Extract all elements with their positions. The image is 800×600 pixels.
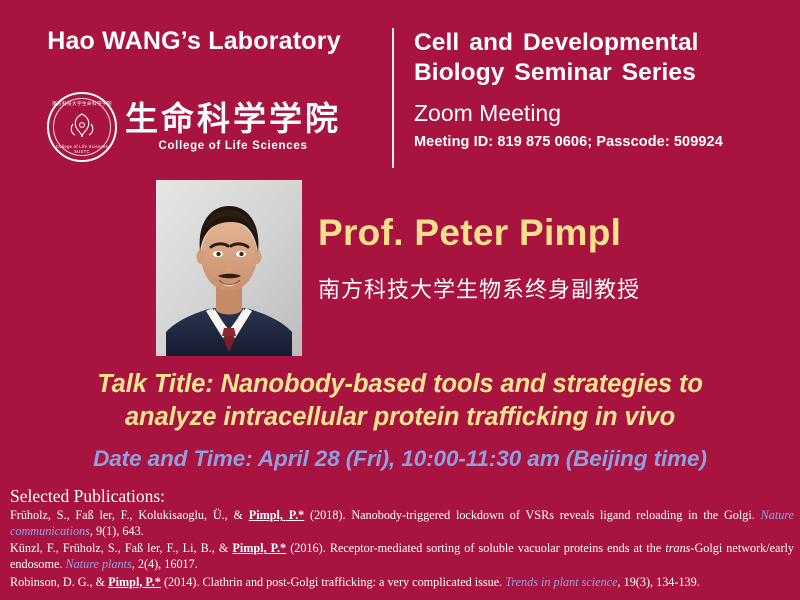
seminar-poster: Hao WANG’s Laboratory 南方科技大学生命科学学院 Colle… [0, 0, 800, 600]
pub2-journal: Nature plants [66, 557, 132, 571]
pub2-citation: , 2(4), 16017. [132, 557, 198, 571]
header-divider [392, 28, 394, 168]
speaker-portrait-graphic [156, 180, 302, 356]
publications-heading: Selected Publications: [10, 486, 794, 506]
pub1-citation: , 9(1), 643. [90, 524, 144, 538]
header-right-block: Cell and Developmental Biology Seminar S… [414, 28, 794, 150]
pub3-citation: , 19(3), 134-139. [618, 575, 700, 589]
talk-title-line-2: analyze intracellular protein traffickin… [14, 401, 786, 434]
pub2-italic-term: trans [665, 541, 690, 555]
pub3-text: (2014). Clathrin and post-Golgi traffick… [161, 575, 505, 589]
publication-item: Robinson, D. G., & Pimpl, P.* (2014). Cl… [10, 575, 794, 591]
selected-publications: Selected Publications: Früholz, S., Faß … [10, 486, 794, 590]
university-seal-icon: 南方科技大学生命科学学院 College of Life Sciences SU… [47, 92, 117, 162]
college-name-block: 生命科学学院 College of Life Sciences [125, 102, 341, 152]
lab-title: Hao WANG’s Laboratory [0, 28, 388, 56]
pub3-journal: Trends in plant science [505, 575, 617, 589]
pub1-text: (2018). Nanobody-triggered lockdown of V… [304, 508, 760, 522]
college-name-chinese: 生命科学学院 [125, 102, 341, 135]
seal-emblem-icon [65, 110, 99, 144]
zoom-meeting-label: Zoom Meeting [414, 101, 794, 126]
pub1-authors: Früholz, S., Faß ler, F., Kolukisaoglu, … [10, 508, 249, 522]
college-logo-row: 南方科技大学生命科学学院 College of Life Sciences SU… [0, 92, 388, 162]
talk-title: Talk Title: Nanobody-based tools and str… [14, 368, 786, 433]
pub2-text-a: (2016). Receptor-mediated sorting of sol… [286, 541, 665, 555]
pub2-highlight-author: Pimpl, P.* [232, 541, 286, 555]
seal-top-text: 南方科技大学生命科学学院 [49, 101, 115, 107]
meeting-credentials: Meeting ID: 819 875 0606; Passcode: 5099… [414, 134, 794, 150]
speaker-name: Prof. Peter Pimpl [318, 214, 621, 251]
seal-bottom-text: College of Life Sciences SUSTC [49, 144, 115, 154]
date-and-time: Date and Time: April 28 (Fri), 10:00-11:… [14, 447, 786, 472]
pub3-highlight-author: Pimpl, P.* [108, 575, 161, 589]
college-name-english: College of Life Sciences [158, 140, 307, 152]
header-left-block: Hao WANG’s Laboratory [0, 28, 388, 56]
pub2-authors: Künzl, F., Früholz, S., Faß ler, F., Li,… [10, 541, 232, 555]
speaker-affiliation: 南方科技大学生物系终身副教授 [318, 278, 640, 304]
pub3-authors: Robinson, D. G., & [10, 575, 108, 589]
talk-title-line-1: Talk Title: Nanobody-based tools and str… [14, 368, 786, 401]
pub1-highlight-author: Pimpl, P.* [249, 508, 304, 522]
speaker-photo [156, 180, 302, 356]
publication-item: Früholz, S., Faß ler, F., Kolukisaoglu, … [10, 508, 794, 539]
seminar-series-title: Cell and Developmental Biology Seminar S… [414, 28, 794, 88]
publication-item: Künzl, F., Früholz, S., Faß ler, F., Li,… [10, 541, 794, 572]
